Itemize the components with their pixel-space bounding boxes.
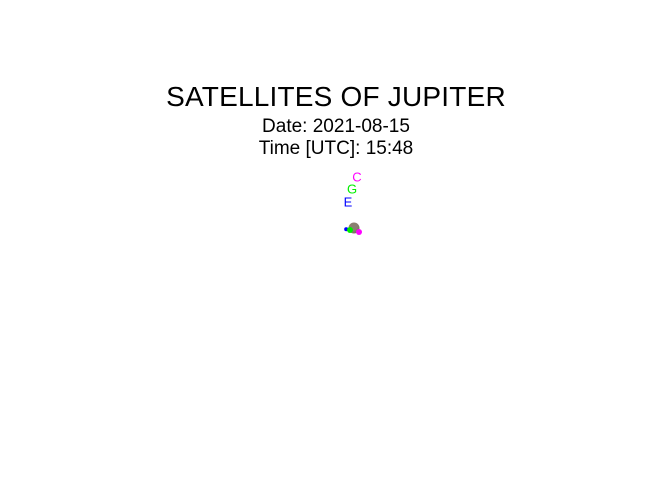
moon-label-europa: E [344, 196, 353, 209]
moon-dot-callisto [356, 229, 362, 235]
app-canvas: SATELLITES OF JUPITER Date: 2021-08-15 T… [0, 0, 672, 480]
sky-plot-area: C G E [0, 0, 672, 480]
moon-dot-ganymede [347, 227, 353, 233]
